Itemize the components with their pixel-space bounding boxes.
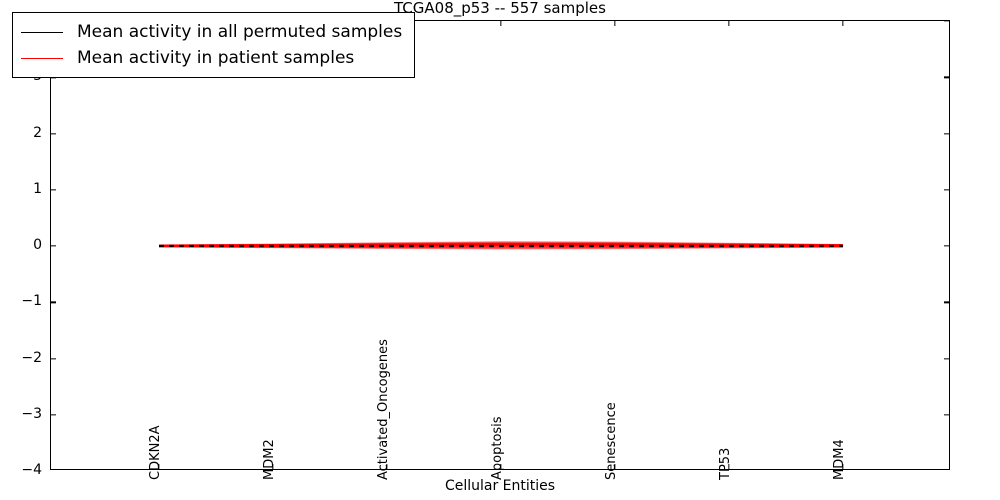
x-tick-mark: [614, 21, 615, 26]
legend-item: Mean activity in patient samples: [21, 45, 402, 71]
legend-label: Mean activity in all permuted samples: [77, 24, 402, 41]
x-tick-mark: [500, 21, 501, 26]
x-tick-label: MDM2: [262, 439, 277, 480]
y-tick-label: 1: [14, 182, 42, 196]
x-tick-label: MDM4: [832, 439, 847, 480]
chart-figure: TCGA08_p53 -- 557 samples Inferred Activ…: [0, 0, 1000, 500]
y-tick-label: −3: [14, 407, 42, 421]
legend-line-swatch-permuted: [21, 32, 63, 33]
y-tick-label: 0: [14, 238, 42, 252]
chart-legend: Mean activity in all permuted samples Me…: [12, 12, 415, 78]
y-tick-label: −4: [14, 463, 42, 477]
x-tick-mark: [842, 21, 843, 26]
legend-line-swatch-patient: [21, 58, 63, 59]
x-tick-label: Senescence: [604, 402, 619, 480]
legend-label: Mean activity in patient samples: [77, 50, 354, 67]
legend-item: Mean activity in all permuted samples: [21, 19, 402, 45]
x-tick-label: Activated_Oncogenes: [376, 339, 391, 480]
x-axis-label: Cellular Entities: [50, 478, 950, 494]
x-tick-label: Apoptosis: [490, 416, 505, 480]
data-series-layer: [51, 21, 949, 469]
x-tick-label: TP53: [718, 448, 733, 480]
y-tick-label: 2: [14, 126, 42, 140]
plot-area: [50, 20, 950, 470]
x-tick-label: CDKN2A: [148, 425, 163, 480]
y-tick-label: −1: [14, 294, 42, 308]
plot-inner: [51, 21, 949, 469]
x-tick-mark: [728, 21, 729, 26]
data-curves: [51, 21, 949, 469]
y-tick-label: −2: [14, 351, 42, 365]
